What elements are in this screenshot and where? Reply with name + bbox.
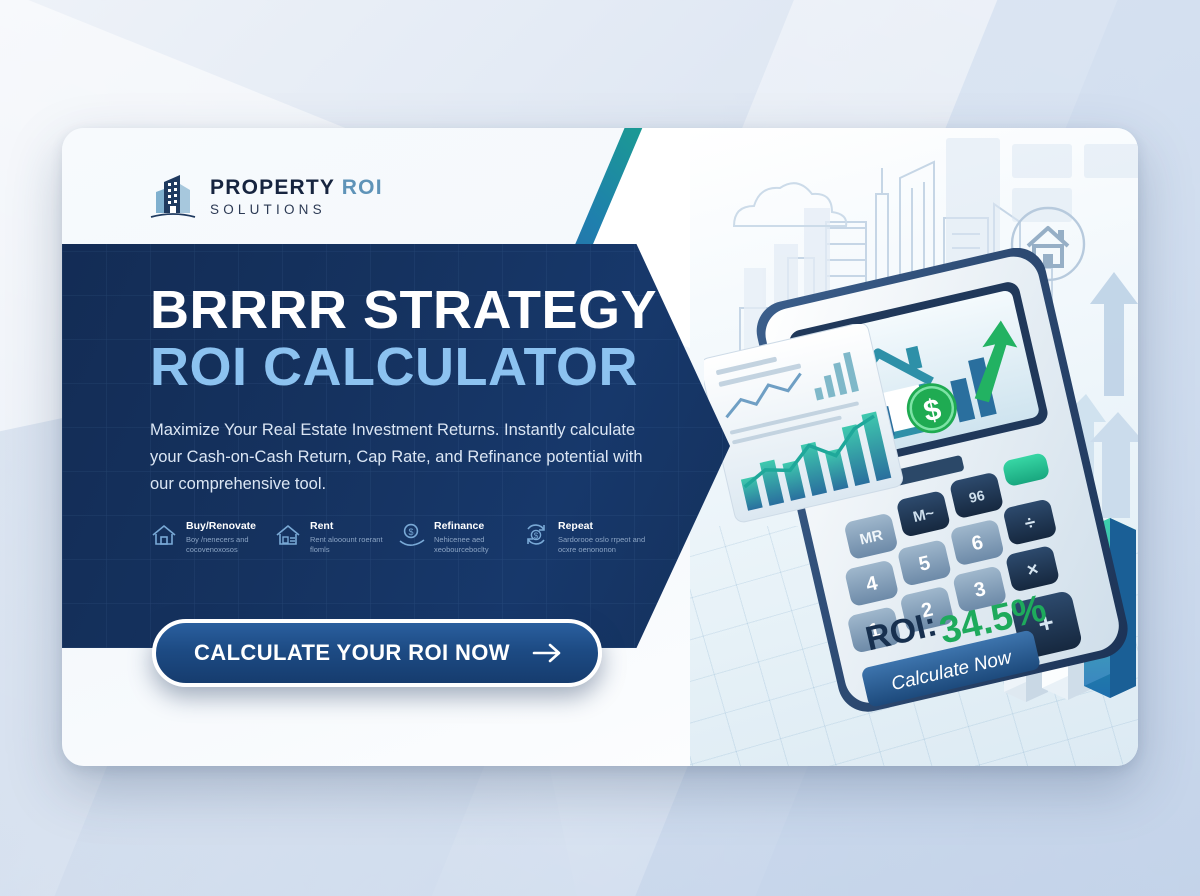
cta-label: CALCULATE YOUR ROI NOW — [194, 640, 510, 666]
brand-name-accent: ROI — [342, 176, 383, 199]
headline-line-1: BRRRR STRATEGY — [150, 284, 670, 337]
feature-desc: Boy /nenecers and cocovenoxosos — [186, 535, 274, 555]
feature-title: Refinance — [434, 520, 522, 533]
brand-name: PROPERTY ROI — [210, 176, 383, 200]
feature-item-repeat: $ Repeat Sardorooe oslo rrpeot and ocxre… — [522, 520, 646, 556]
hand-dollar-icon: $ — [398, 522, 426, 548]
subheadline: Maximize Your Real Estate Investment Ret… — [150, 417, 650, 497]
feature-list: Buy/Renovate Boy /nenecers and cocovenox… — [150, 520, 670, 556]
brand-tagline: SOLUTIONS — [210, 202, 383, 217]
bar-line-chart-icon — [704, 324, 904, 524]
feature-desc: Nehicenee aed xeobourceboclty — [434, 535, 522, 555]
feature-title: Buy/Renovate — [186, 520, 274, 533]
hero-card: $ — [62, 128, 1138, 766]
headline-line-2: ROI CALCULATOR — [150, 337, 670, 397]
brand-logo[interactable]: PROPERTY ROI SOLUTIONS — [150, 172, 383, 220]
house-document-icon — [274, 522, 302, 548]
feature-desc: Sardorooe oslo rrpeot and ocxre oenonono… — [558, 535, 646, 555]
hero-illustration: $ — [690, 128, 1138, 766]
feature-title: Rent — [310, 520, 398, 533]
brand-name-primary: PROPERTY — [210, 176, 335, 199]
house-icon — [150, 522, 178, 548]
feature-item-refinance: $ Refinance Nehicenee aed xeobourceboclt… — [398, 520, 522, 556]
feature-item-buy-renovate: Buy/Renovate Boy /nenecers and cocovenox… — [150, 520, 274, 556]
building-icon — [150, 172, 196, 220]
refresh-dollar-icon: $ — [522, 522, 550, 548]
calculate-roi-cta-button[interactable]: CALCULATE YOUR ROI NOW — [152, 619, 602, 687]
svg-text:$: $ — [408, 527, 413, 537]
hero-text-panel: BRRRR STRATEGY ROI CALCULATOR Maximize Y… — [62, 244, 730, 648]
svg-text:$: $ — [534, 531, 539, 540]
feature-title: Repeat — [558, 520, 646, 533]
feature-item-rent: Rent Rent alooount roerant flomls — [274, 520, 398, 556]
feature-desc: Rent alooount roerant flomls — [310, 535, 398, 555]
arrow-right-icon — [532, 642, 564, 664]
